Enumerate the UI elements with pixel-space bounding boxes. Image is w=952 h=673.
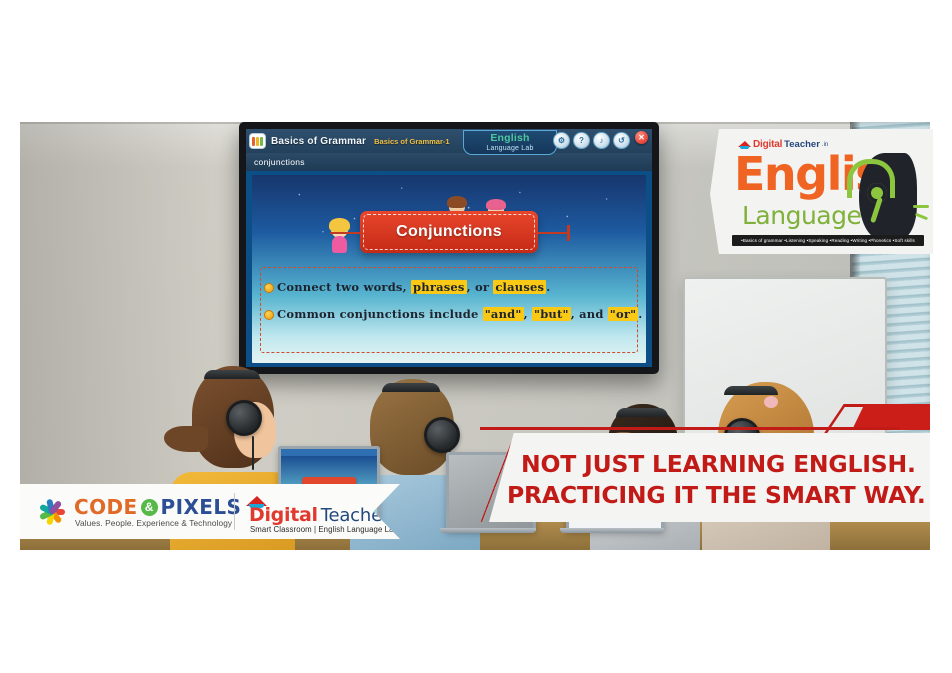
cp-code-text: CODE: [74, 495, 138, 519]
slide-title: Conjunctions: [396, 223, 502, 241]
bullet-text: Common conjunctions include: [277, 307, 483, 321]
tagline-line-1: NOT JUST LEARNING ENGLISH.: [521, 450, 916, 478]
bullet-text: .: [638, 307, 642, 321]
ell-skills-strip: •Basics of grammar •Listening •Speaking …: [732, 235, 924, 246]
settings-icon[interactable]: ⚙: [553, 132, 570, 149]
cp-ampersand: &: [141, 499, 158, 516]
app-logo-icon: [250, 134, 265, 148]
display-screen: Basics of Grammar Basics of Grammar-1 En…: [246, 129, 652, 367]
ell-skills-text: •Basics of grammar •Listening •Speaking …: [741, 238, 915, 243]
pinwheel-icon: [38, 498, 68, 526]
slide-bullet: Common conjunctions include "and", "but"…: [277, 307, 631, 321]
student-2-headphone-cup: [424, 417, 460, 453]
plaque-rod-right: [538, 232, 568, 234]
screen-ell-badge: English Language Lab: [463, 130, 557, 155]
code-pixels-tagline: Values. People. Experience & Technology: [75, 518, 232, 528]
student-3-headband: [616, 408, 668, 417]
laptop-1-app-header: [281, 449, 377, 456]
slide-bullet: Connect two words, phrases, or clauses.: [277, 280, 631, 294]
plaque-rod-left: [330, 232, 360, 234]
digital-teacher-tagline: Smart Classroom | English Language Lab: [250, 525, 398, 534]
app-subtitle: Basics of Grammar-1: [374, 137, 449, 146]
bullet-dot-icon: [264, 283, 274, 293]
logo-divider: [234, 493, 235, 530]
headset-profile-icon: [851, 153, 927, 239]
student-1-headband: [204, 370, 260, 379]
bullet-text: Connect two words,: [277, 280, 411, 294]
volume-icon[interactable]: ♪: [593, 132, 610, 149]
bullet-text: ,: [524, 307, 532, 321]
highlighted-term: "but": [532, 307, 571, 321]
tagline-banner: NOT JUST LEARNING ENGLISH. PRACTICING IT…: [489, 433, 930, 522]
student-4-headband: [724, 386, 778, 395]
bullet-text: .: [546, 280, 550, 294]
close-icon[interactable]: ✕: [635, 131, 648, 144]
english-language-lab-badge: Digital Teacher .in English Language Lab…: [710, 129, 933, 254]
cp-pixels-text: PIXELS: [161, 495, 242, 519]
laptop-3-base: [560, 528, 664, 533]
screen-toolbar[interactable]: ⚙ ? ♪ ↺: [553, 132, 630, 149]
partner-logo-bar: CODE & PIXELS Values. People. Experience…: [20, 484, 400, 539]
bullet-dot-icon: [264, 310, 274, 320]
screen-badge-subtitle: Language Lab: [486, 145, 533, 152]
lesson-name: conjunctions: [254, 157, 305, 167]
screen-badge-title: English: [490, 133, 529, 144]
student-1-ponytail: [164, 426, 208, 452]
student-2-headband: [382, 383, 440, 392]
dt-digital-text: Digital: [249, 504, 318, 526]
bullet-text: , or: [467, 280, 494, 294]
lesson-slide: Conjunctions Connect two words, phrases,…: [252, 175, 646, 363]
slide-title-plaque: Conjunctions: [360, 211, 538, 253]
plaque-pin: [567, 225, 570, 241]
interactive-display-panel[interactable]: Basics of Grammar Basics of Grammar-1 En…: [239, 122, 659, 374]
code-pixels-wordmark: CODE & PIXELS: [74, 495, 241, 519]
highlighted-term: clauses: [493, 280, 546, 294]
highlighted-term: phrases: [411, 280, 467, 294]
tagline-line-2: PRACTICING IT THE SMART WAY.: [507, 481, 926, 509]
app-title: Basics of Grammar: [271, 136, 366, 147]
slide-content-box: Connect two words, phrases, or clauses. …: [260, 267, 638, 353]
lesson-bar: conjunctions: [246, 153, 652, 171]
help-icon[interactable]: ?: [573, 132, 590, 149]
highlighted-term: "and": [483, 307, 524, 321]
student-4-hair-tie: [764, 396, 778, 408]
app-header-bar: Basics of Grammar Basics of Grammar-1 En…: [246, 129, 652, 153]
red-accent-line: [480, 427, 900, 430]
refresh-icon[interactable]: ↺: [613, 132, 630, 149]
bullet-text: , and: [571, 307, 608, 321]
highlighted-term: "or": [608, 307, 639, 321]
laptop-2-base: [440, 528, 536, 533]
student-1-headphone-cup: [226, 400, 262, 436]
student-1-headphone-cable: [252, 436, 254, 470]
